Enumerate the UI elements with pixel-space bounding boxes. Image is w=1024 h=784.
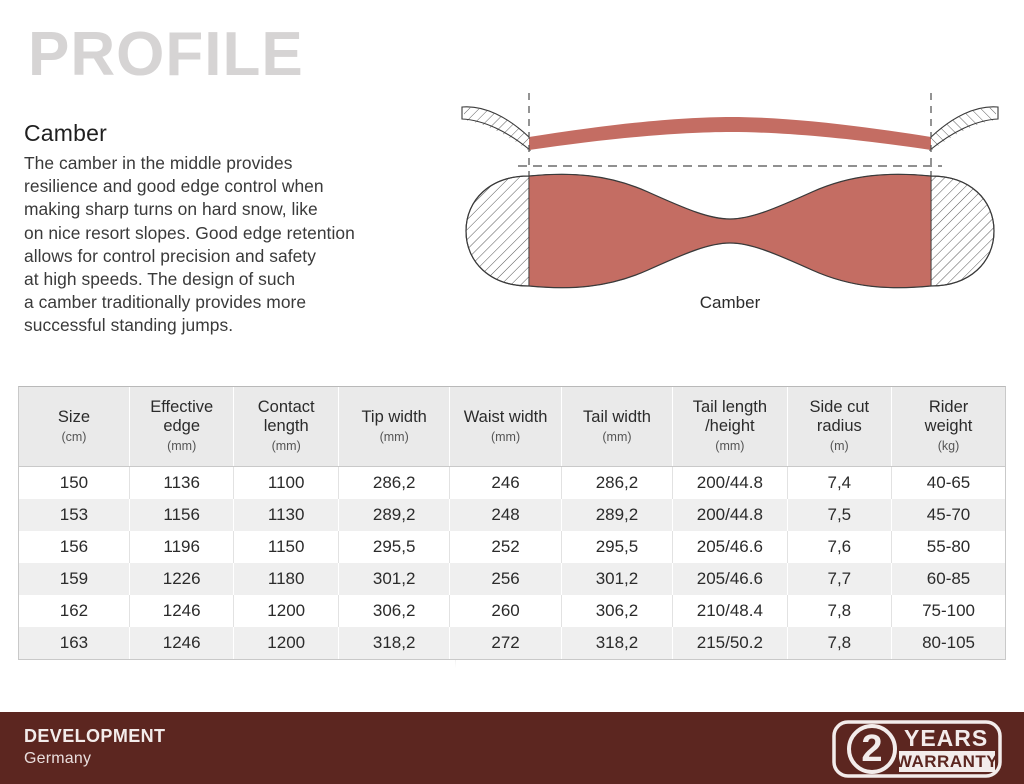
- table-row: 15912261180301,2256301,2205/46.67,760-85: [19, 563, 1005, 595]
- table-cell: 1150: [234, 531, 339, 563]
- spec-table-container: Size (cm) Effective edge (mm) Contact le…: [18, 386, 1006, 660]
- header-unit: (mm): [341, 428, 447, 447]
- table-cell: 248: [450, 499, 561, 531]
- table-cell: 40-65: [892, 467, 1005, 500]
- footer-brand: DEVELOPMENT: [24, 726, 165, 747]
- side-profile-camber-body: [529, 117, 931, 150]
- table-cell: 286,2: [561, 467, 672, 500]
- table-cell: 301,2: [561, 563, 672, 595]
- topdown-outline: [466, 174, 994, 287]
- table-cell: 45-70: [892, 499, 1005, 531]
- table-header-size: Size (cm): [19, 387, 129, 467]
- table-cell: 1196: [129, 531, 234, 563]
- table-header-side-cut-radius: Side cut radius (m): [787, 387, 892, 467]
- table-cell: 162: [19, 595, 129, 627]
- header-label-line1: Effective: [150, 398, 213, 416]
- header-label: Tail width: [583, 408, 651, 426]
- table-cell: 272: [450, 627, 561, 659]
- table-row: 16212461200306,2260306,2210/48.47,875-10…: [19, 595, 1005, 627]
- header-label: Size: [58, 408, 90, 426]
- header-label-line1: Contact: [258, 398, 315, 416]
- table-cell: 150: [19, 467, 129, 500]
- table-cell: 1246: [129, 595, 234, 627]
- header-unit: (mm): [564, 428, 670, 447]
- topdown-board-body: [529, 174, 931, 287]
- section-heading: Camber: [24, 120, 107, 147]
- table-cell: 295,5: [338, 531, 449, 563]
- table-cell: 200/44.8: [673, 467, 787, 500]
- table-header-tail-length-height: Tail length /height (mm): [673, 387, 787, 467]
- table-cell: 80-105: [892, 627, 1005, 659]
- table-cell: 306,2: [338, 595, 449, 627]
- table-cell: 318,2: [561, 627, 672, 659]
- header-label-line2: edge: [163, 417, 200, 435]
- table-cell: 1200: [234, 595, 339, 627]
- header-unit: (cm): [21, 428, 127, 447]
- table-header-rider-weight: Rider weight (kg): [892, 387, 1005, 467]
- side-profile-tip-right: [915, 98, 1005, 168]
- table-cell: 289,2: [338, 499, 449, 531]
- table-cell: 156: [19, 531, 129, 563]
- page-title: PROFILE: [28, 24, 304, 86]
- table-cell: 260: [450, 595, 561, 627]
- table-cell: 256: [450, 563, 561, 595]
- table-cell: 153: [19, 499, 129, 531]
- header-label-line2: weight: [925, 417, 973, 435]
- header-label-line2: radius: [817, 417, 862, 435]
- side-profile-tip-left: [455, 98, 545, 168]
- header-label-line1: Rider: [929, 398, 968, 416]
- table-cell: 252: [450, 531, 561, 563]
- table-cell: 7,8: [787, 627, 892, 659]
- table-cell: 7,7: [787, 563, 892, 595]
- table-header-tail-width: Tail width (mm): [561, 387, 672, 467]
- header-label-line2: /height: [705, 417, 755, 435]
- header-label: Waist width: [464, 408, 548, 426]
- header-unit: (mm): [452, 428, 558, 447]
- table-row: 15611961150295,5252295,5205/46.67,655-80: [19, 531, 1005, 563]
- table-cell: 295,5: [561, 531, 672, 563]
- table-cell: 215/50.2: [673, 627, 787, 659]
- warranty-years-text: YEARS: [904, 725, 988, 751]
- table-cell: 7,5: [787, 499, 892, 531]
- header-label-line1: Side cut: [809, 398, 869, 416]
- table-cell: 1246: [129, 627, 234, 659]
- table-cell: 1226: [129, 563, 234, 595]
- header-unit: (kg): [894, 437, 1003, 456]
- table-row: 15011361100286,2246286,2200/44.87,440-65: [19, 467, 1005, 500]
- header-unit: (mm): [236, 437, 336, 456]
- footer-bar: DEVELOPMENT Germany 2 YEARS WARRANTY: [0, 712, 1024, 784]
- table-cell: 301,2: [338, 563, 449, 595]
- table-cell: 289,2: [561, 499, 672, 531]
- table-cell: 210/48.4: [673, 595, 787, 627]
- spec-table: Size (cm) Effective edge (mm) Contact le…: [19, 387, 1005, 659]
- table-cell: 1130: [234, 499, 339, 531]
- camber-profile-diagram: [450, 88, 1010, 328]
- table-cell: 318,2: [338, 627, 449, 659]
- spec-table-body: 15011361100286,2246286,2200/44.87,440-65…: [19, 467, 1005, 660]
- header-unit: (m): [790, 437, 890, 456]
- table-cell: 1136: [129, 467, 234, 500]
- warranty-badge: 2 YEARS WARRANTY: [832, 719, 1002, 779]
- table-row: 16312461200318,2272318,2215/50.27,880-10…: [19, 627, 1005, 659]
- table-header-row: Size (cm) Effective edge (mm) Contact le…: [19, 387, 1005, 467]
- table-cell: 246: [450, 467, 561, 500]
- table-header-effective-edge: Effective edge (mm): [129, 387, 234, 467]
- table-cell: 1180: [234, 563, 339, 595]
- table-cell: 286,2: [338, 467, 449, 500]
- table-header-contact-length: Contact length (mm): [234, 387, 339, 467]
- table-cell: 159: [19, 563, 129, 595]
- table-cell: 7,4: [787, 467, 892, 500]
- table-row: 15311561130289,2248289,2200/44.87,545-70: [19, 499, 1005, 531]
- section-body-text: The camber in the middle provides resili…: [24, 152, 444, 338]
- table-cell: 1156: [129, 499, 234, 531]
- header-label: Tip width: [361, 408, 426, 426]
- table-header-waist-width: Waist width (mm): [450, 387, 561, 467]
- header-unit: (mm): [675, 437, 784, 456]
- header-label-line1: Tail length: [693, 398, 767, 416]
- table-header-tip-width: Tip width (mm): [338, 387, 449, 467]
- table-cell: 205/46.6: [673, 531, 787, 563]
- header-label-line2: length: [264, 417, 309, 435]
- table-cell: 75-100: [892, 595, 1005, 627]
- footer-country: Germany: [24, 750, 91, 768]
- table-cell: 60-85: [892, 563, 1005, 595]
- diagram-caption: Camber: [450, 293, 1010, 313]
- table-cell: 1100: [234, 467, 339, 500]
- table-cell: 306,2: [561, 595, 672, 627]
- warranty-number-text: 2: [861, 728, 882, 770]
- table-cell: 7,6: [787, 531, 892, 563]
- table-cell: 55-80: [892, 531, 1005, 563]
- table-cell: 7,8: [787, 595, 892, 627]
- header-unit: (mm): [132, 437, 232, 456]
- table-cell: 163: [19, 627, 129, 659]
- table-cell: 1200: [234, 627, 339, 659]
- table-cell: 205/46.6: [673, 563, 787, 595]
- table-cell: 200/44.8: [673, 499, 787, 531]
- warranty-label-text: WARRANTY: [896, 752, 998, 771]
